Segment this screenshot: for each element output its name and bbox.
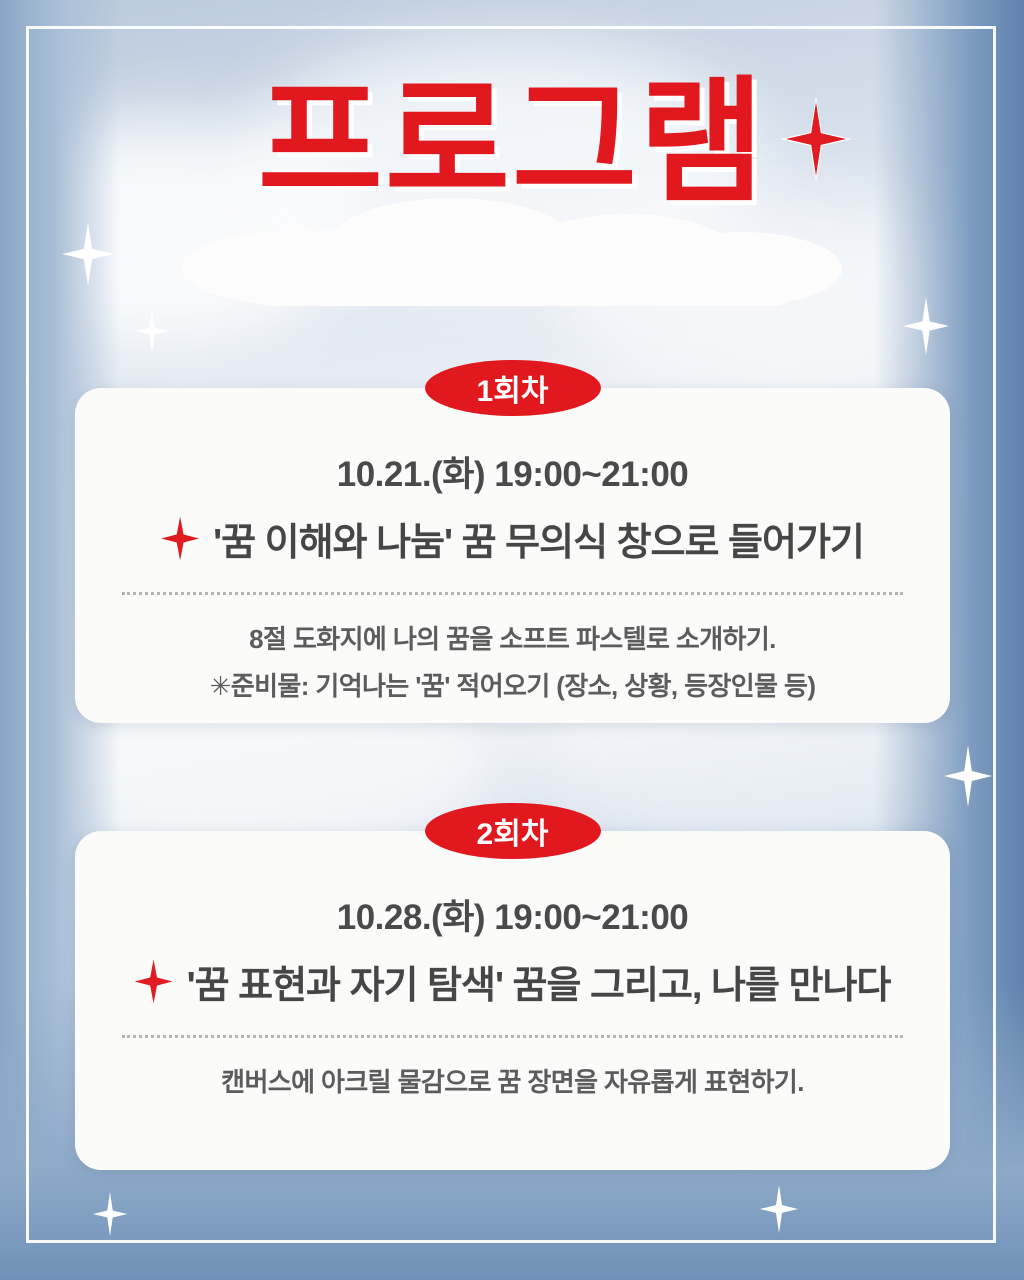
sparkle-icon — [161, 517, 199, 561]
session-badge-2: 2회차 — [425, 803, 601, 859]
session-divider-1 — [122, 592, 903, 595]
description-line: 8절 도화지에 나의 꿈을 소프트 파스텔로 소개하기. — [105, 619, 920, 656]
session-description-1: 8절 도화지에 나의 꿈을 소프트 파스텔로 소개하기. ✳준비물: 기억나는 … — [105, 619, 920, 703]
session-badge-1: 1회차 — [425, 360, 601, 416]
session-description-2: 캔버스에 아크릴 물감으로 꿈 장면을 자유롭게 표현하기. — [105, 1062, 920, 1099]
session-date-1: 10.21.(화) 19:00~21:00 — [105, 446, 920, 497]
session-divider-2 — [122, 1035, 903, 1038]
sparkle-red-icon — [786, 102, 846, 176]
sparkle-white-icon — [760, 1185, 798, 1233]
session-topic-1: '꿈 이해와 나눔' 꿈 무의식 창으로 들어가기 — [213, 511, 864, 566]
sparkle-white-icon — [944, 745, 992, 807]
title-zone: 프로그램 — [0, 60, 1024, 290]
page-title: 프로그램 — [0, 60, 1024, 226]
sparkle-white-icon — [135, 310, 169, 352]
session-topic-2: '꿈 표현과 자기 탐색' 꿈을 그리고, 나를 만나다 — [187, 954, 891, 1009]
session-topic-row-2: '꿈 표현과 자기 탐색' 꿈을 그리고, 나를 만나다 — [105, 954, 920, 1009]
description-line: ✳준비물: 기억나는 '꿈' 적어오기 (장소, 상황, 등장인물 등) — [105, 666, 920, 703]
session-card-1: 10.21.(화) 19:00~21:00 '꿈 이해와 나눔' 꿈 무의식 창… — [75, 388, 950, 723]
session-card-2: 10.28.(화) 19:00~21:00 '꿈 표현과 자기 탐색' 꿈을 그… — [75, 831, 950, 1170]
session-date-2: 10.28.(화) 19:00~21:00 — [105, 889, 920, 940]
sparkle-icon — [135, 960, 173, 1004]
sparkle-white-icon — [93, 1192, 127, 1236]
session-topic-row-1: '꿈 이해와 나눔' 꿈 무의식 창으로 들어가기 — [105, 511, 920, 566]
program-poster: 프로그램 1회차 10.21.(화) 19:00~21:00 '꿈 이해와 나눔… — [0, 0, 1024, 1280]
description-line: 캔버스에 아크릴 물감으로 꿈 장면을 자유롭게 표현하기. — [105, 1062, 920, 1099]
sparkle-white-icon — [903, 297, 949, 355]
